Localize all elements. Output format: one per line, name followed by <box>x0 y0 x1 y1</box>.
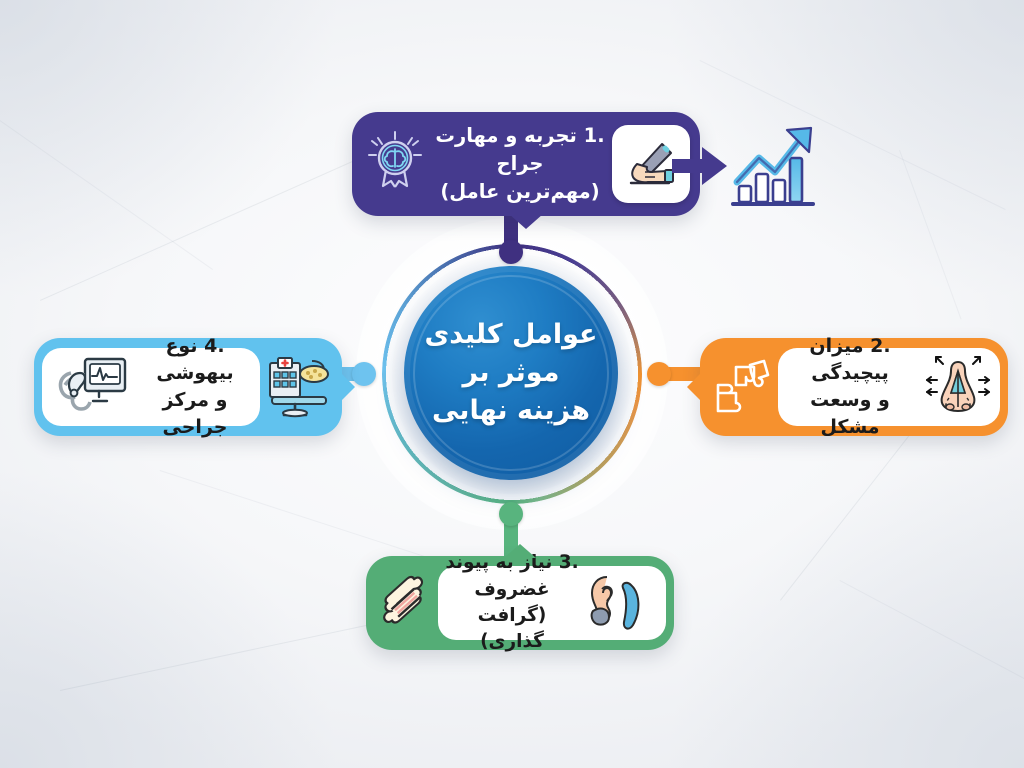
center-title-line-3: هزینه نهایی <box>425 392 598 430</box>
center-circle: عوامل کلیدی موثر بر هزینه نهایی <box>404 266 618 480</box>
infographic-canvas: عوامل کلیدی موثر بر هزینه نهایی .1 تجربه… <box>0 0 1024 768</box>
factor-card-1[interactable]: .1 تجربه و مهارت جراح (مهم‌ترین عامل) <box>352 112 700 216</box>
corner-shade-bottom-left <box>0 468 340 768</box>
card-2-inner-panel: .2 میزان پیچیدگی و وسعت مشکل <box>778 348 1000 426</box>
card-2-line-2: و وسعت مشکل <box>784 387 916 441</box>
card-3-tail <box>504 544 536 558</box>
center-title-line-2: موثر بر <box>425 354 598 392</box>
growth-chart-icon <box>725 120 821 212</box>
connector-dot-bottom <box>499 502 523 526</box>
center-title: عوامل کلیدی موثر بر هزینه نهایی <box>425 316 598 431</box>
card-3-line-2: (گرافت گذاری) <box>444 603 580 656</box>
card-4-tail <box>340 372 355 402</box>
arrow-right-icon <box>672 145 728 187</box>
connector-dot-left <box>352 362 376 386</box>
corner-shade-top-left <box>0 0 340 300</box>
brain-award-icon <box>362 128 428 200</box>
corner-shade-bottom-right <box>664 448 1024 768</box>
card-3-text: .3 نیاز به پیوند غضروف (گرافت گذاری) <box>444 550 580 655</box>
factor-card-3[interactable]: .3 نیاز به پیوند غضروف (گرافت گذاری) <box>366 556 674 650</box>
ear-cartilage-icon <box>584 571 660 635</box>
card-2-text: .2 میزان پیچیدگی و وسعت مشکل <box>784 333 916 441</box>
puzzle-icon <box>706 355 778 419</box>
background-vein <box>899 150 962 319</box>
background-vein <box>840 580 1024 694</box>
center-title-line-1: عوامل کلیدی <box>425 316 598 354</box>
nose-anatomy-icon <box>922 352 994 422</box>
card-2-line-1: .2 میزان پیچیدگی <box>784 333 916 387</box>
background-vein <box>0 120 213 270</box>
card-1-text: .1 تجربه و مهارت جراح (مهم‌ترین عامل) <box>428 122 612 205</box>
card-2-tail <box>687 372 702 402</box>
card-3-inner-panel: .3 نیاز به پیوند غضروف (گرافت گذاری) <box>438 566 666 640</box>
card-1-line-2: (مهم‌ترین عامل) <box>428 178 612 206</box>
card-4-line-2: و مرکز جراحی <box>136 387 254 441</box>
connector-dot-top <box>499 240 523 264</box>
factor-card-4[interactable]: .4 نوع بیهوشی و مرکز جراحی <box>34 338 342 436</box>
card-1-tail <box>509 214 543 229</box>
anesthesia-monitor-icon <box>48 355 130 419</box>
card-4-text: .4 نوع بیهوشی و مرکز جراحی <box>136 333 254 441</box>
hospital-operating-room-icon <box>260 355 336 419</box>
card-3-line-1: .3 نیاز به پیوند غضروف <box>444 550 580 603</box>
background-vein <box>60 623 373 691</box>
card-1-line-1: .1 تجربه و مهارت جراح <box>428 122 612 177</box>
card-4-inner-panel: .4 نوع بیهوشی و مرکز جراحی <box>42 348 260 426</box>
connector-dot-right <box>647 362 671 386</box>
card-4-line-1: .4 نوع بیهوشی <box>136 333 254 387</box>
factor-card-2[interactable]: .2 میزان پیچیدگی و وسعت مشکل <box>700 338 1008 436</box>
bone-icon <box>374 574 438 632</box>
